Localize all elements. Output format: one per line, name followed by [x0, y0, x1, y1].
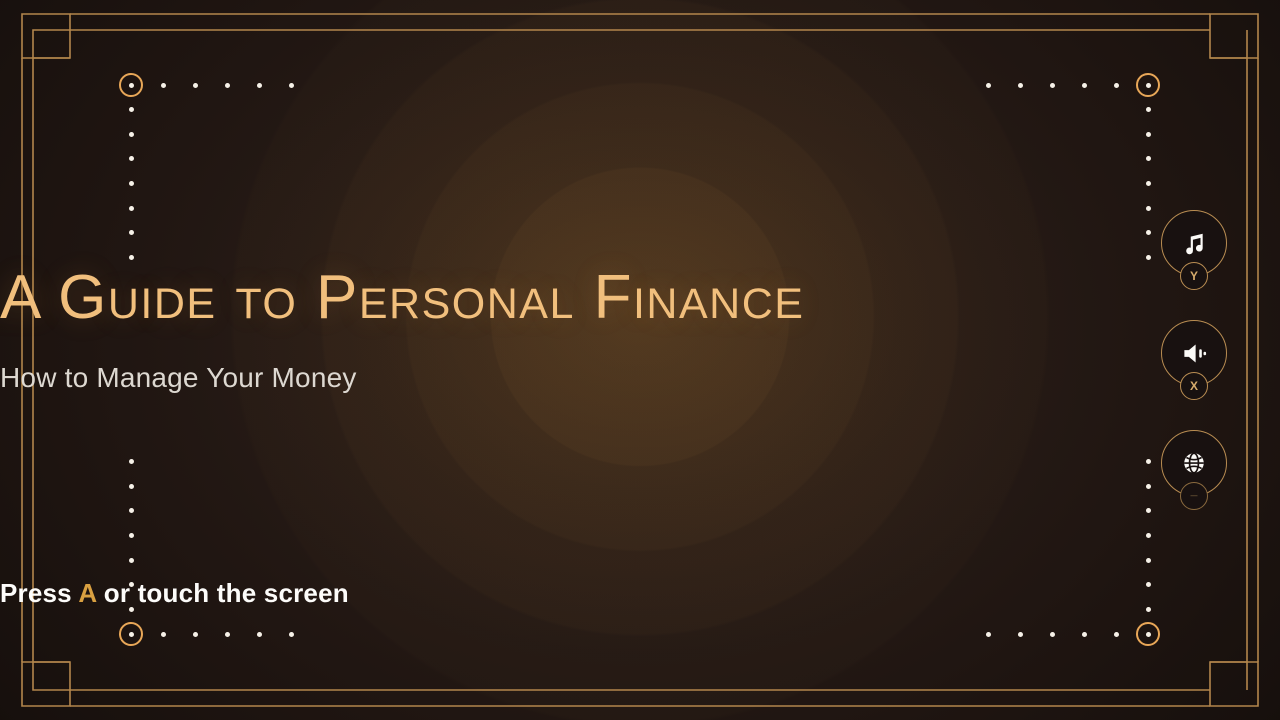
start-prompt[interactable]: Press A or touch the screen [0, 578, 1280, 609]
sound-toggle-key-badge: X [1180, 372, 1208, 400]
language-select-key-badge: — [1180, 482, 1208, 510]
music-toggle-group: Y [1161, 210, 1227, 320]
prompt-after: or touch the screen [96, 578, 349, 608]
background-rings [0, 0, 1280, 720]
title-screen: A Guide to Personal Finance How to Manag… [0, 0, 1280, 720]
language-select-group: — [1161, 430, 1227, 540]
page-subtitle: How to Manage Your Money [0, 362, 1280, 394]
page-title: A Guide to Personal Finance [0, 262, 1280, 333]
music-note-icon [1181, 230, 1207, 256]
speaker-icon [1181, 340, 1208, 367]
side-button-rail: YX— [1161, 210, 1227, 540]
globe-icon [1181, 450, 1207, 476]
music-toggle-key-badge: Y [1180, 262, 1208, 290]
prompt-before: Press [0, 578, 78, 608]
sound-toggle-group: X [1161, 320, 1227, 430]
prompt-key-a: A [78, 578, 96, 608]
